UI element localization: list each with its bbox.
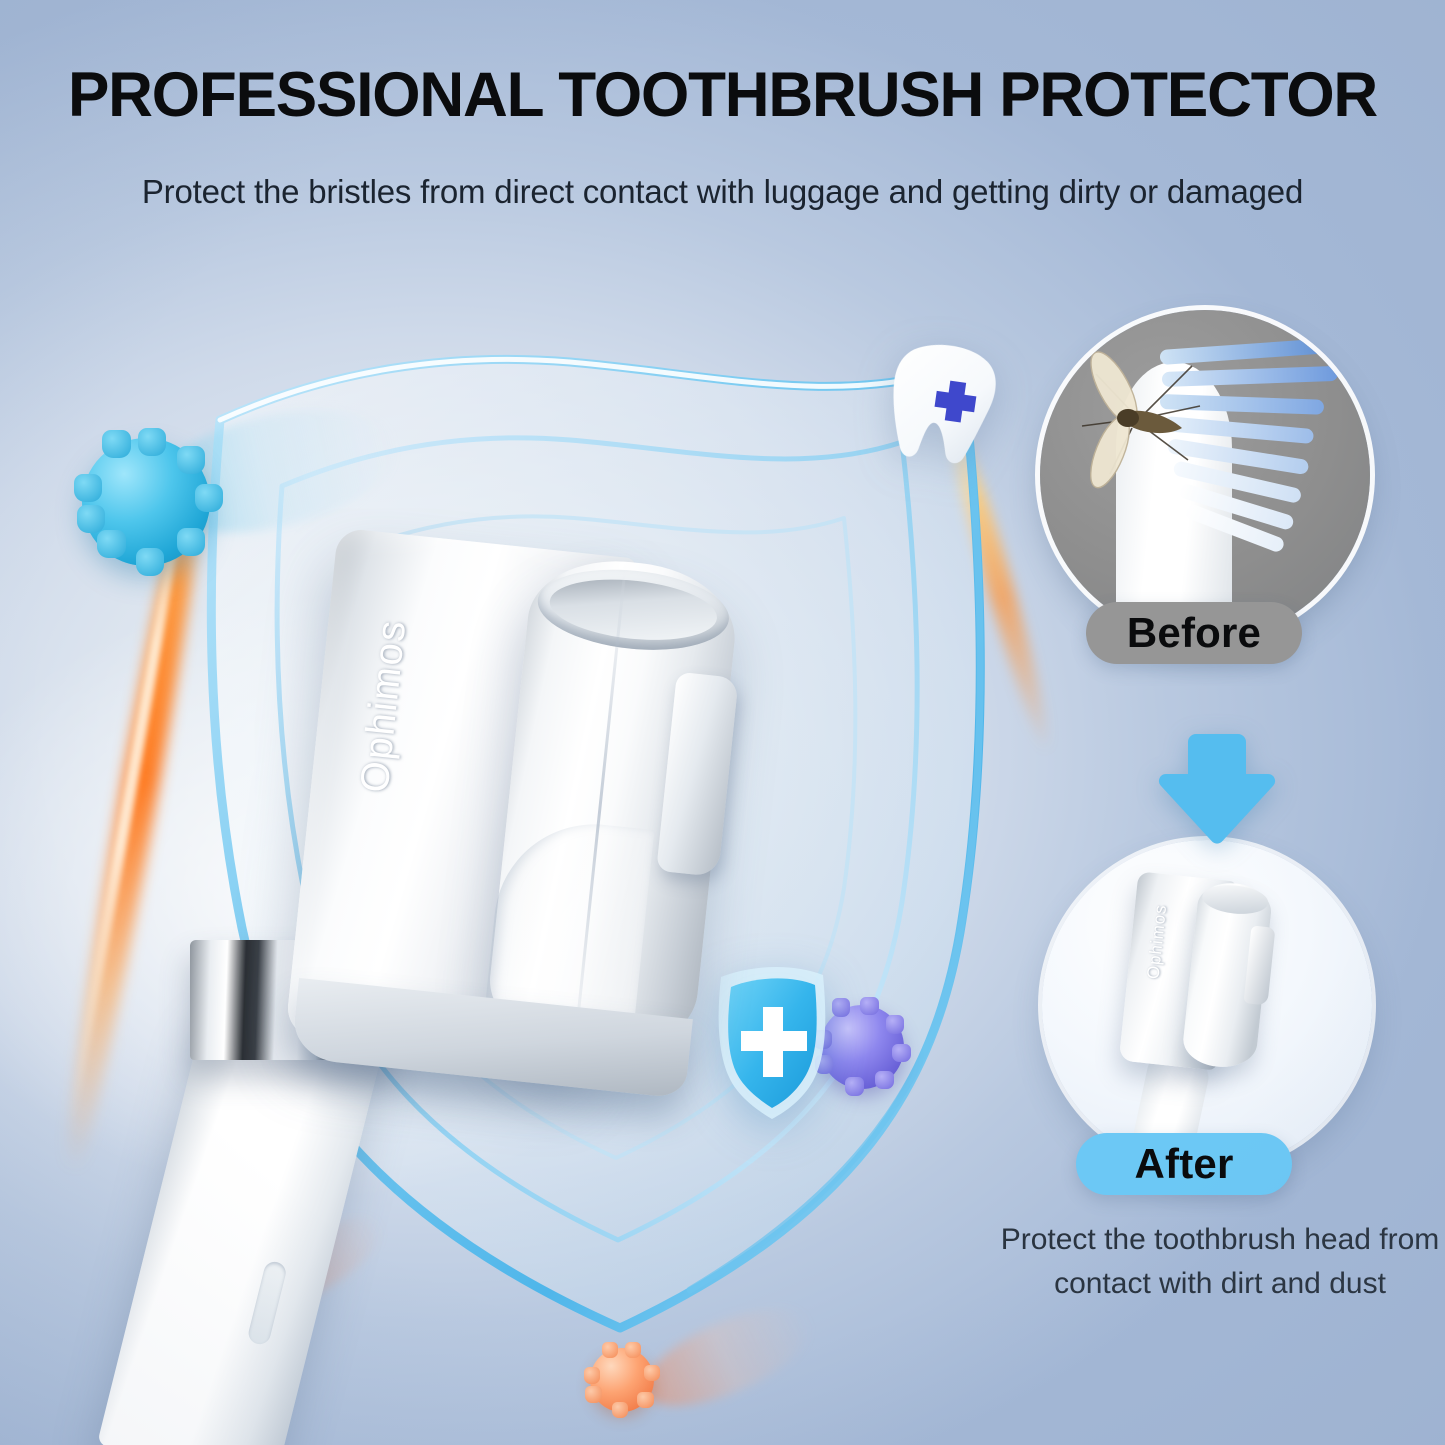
product-toothbrush-with-protector: Ophimos [200, 520, 940, 1445]
header: PROFESSIONAL TOOTHBRUSH PROTECTOR Protec… [0, 0, 1445, 218]
after-label: After [1076, 1133, 1292, 1195]
before-label: Before [1086, 602, 1302, 664]
after-image-circle: Ophimos [1042, 840, 1372, 1170]
product-infographic: PROFESSIONAL TOOTHBRUSH PROTECTOR Protec… [0, 0, 1445, 1445]
insect-icon [1070, 348, 1218, 510]
blue-germ [82, 438, 210, 566]
protector-cap: Ophimos [284, 527, 756, 1088]
page-subtitle: Protect the bristles from direct contact… [133, 165, 1313, 218]
page-title: PROFESSIONAL TOOTHBRUSH PROTECTOR [11, 64, 1434, 127]
before-image-circle [1040, 310, 1370, 640]
tooth-with-cross-icon [877, 332, 1012, 475]
after-caption: Protect the toothbrush head from contact… [960, 1218, 1445, 1305]
toothbrush-button-slot [246, 1260, 288, 1347]
after-protector-cap: Ophimos [1118, 871, 1276, 1080]
before-panel: Before [1020, 310, 1420, 685]
after-panel: Ophimos After Protect the toothbrush hea… [1020, 840, 1420, 1340]
arrow-down-icon [1152, 728, 1282, 850]
